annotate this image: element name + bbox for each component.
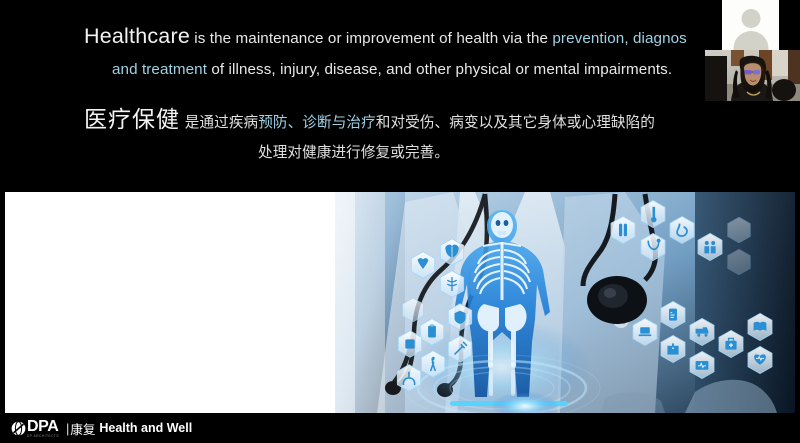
chinese-line-2-text: 处理对健康进行修复或完善。 [258, 144, 449, 161]
english-line-1-body: is the maintenance or improvement of hea… [190, 30, 552, 47]
participant-webcam-tile[interactable] [705, 50, 800, 101]
english-line-1-accent: prevention, diagnos [552, 30, 686, 47]
english-line-2: and treatment of illness, injury, diseas… [112, 61, 672, 78]
logo-chinese-label: 康复 [70, 419, 95, 438]
english-lead-word: Healthcare [84, 24, 190, 48]
chinese-line-1-accent: 预防、诊断与治疗 [258, 114, 376, 131]
slide-text-area: Healthcare is the maintenance or improve… [0, 0, 800, 188]
english-line-2-accent: and treatment [112, 61, 207, 78]
chinese-line-1-b: 和对受伤、病变以及其它身体或心理缺陷的 [376, 114, 655, 131]
hero-illustration [5, 192, 795, 413]
avatar-body-icon [733, 31, 768, 50]
chinese-lead-word: 医疗保健 [84, 107, 180, 133]
screen-share-view: Healthcare is the maintenance or improve… [0, 0, 800, 443]
slide-footer-logo-bar: DPA DP ARCHITECTS | 康复 Health and Well [0, 413, 800, 443]
chinese-line-1: 医疗保健 是通过疾病预防、诊断与治疗和对受伤、病变以及其它身体或心理缺陷的 [84, 100, 655, 134]
logo-divider: | [66, 421, 69, 436]
dpa-globe-icon [11, 421, 26, 436]
avatar-head-icon [741, 9, 760, 28]
dpa-name: DPA [27, 419, 59, 434]
dpa-wordmark: DPA DP ARCHITECTS [27, 419, 59, 438]
english-line-1: Healthcare is the maintenance or improve… [84, 24, 687, 49]
logo-english-label: Health and Well [99, 421, 192, 435]
english-line-2-body: of illness, injury, disease, and other p… [207, 61, 672, 78]
participant-avatar-tile[interactable] [722, 0, 779, 50]
dpa-subtitle: DP ARCHITECTS [27, 434, 59, 438]
chinese-line-1-a: 是通过疾病 [180, 114, 258, 131]
avatar [722, 0, 779, 50]
webcam-video-feed [705, 50, 800, 101]
chinese-line-2: 处理对健康进行修复或完善。 [258, 141, 449, 162]
healthcare-hero-image [5, 192, 795, 413]
